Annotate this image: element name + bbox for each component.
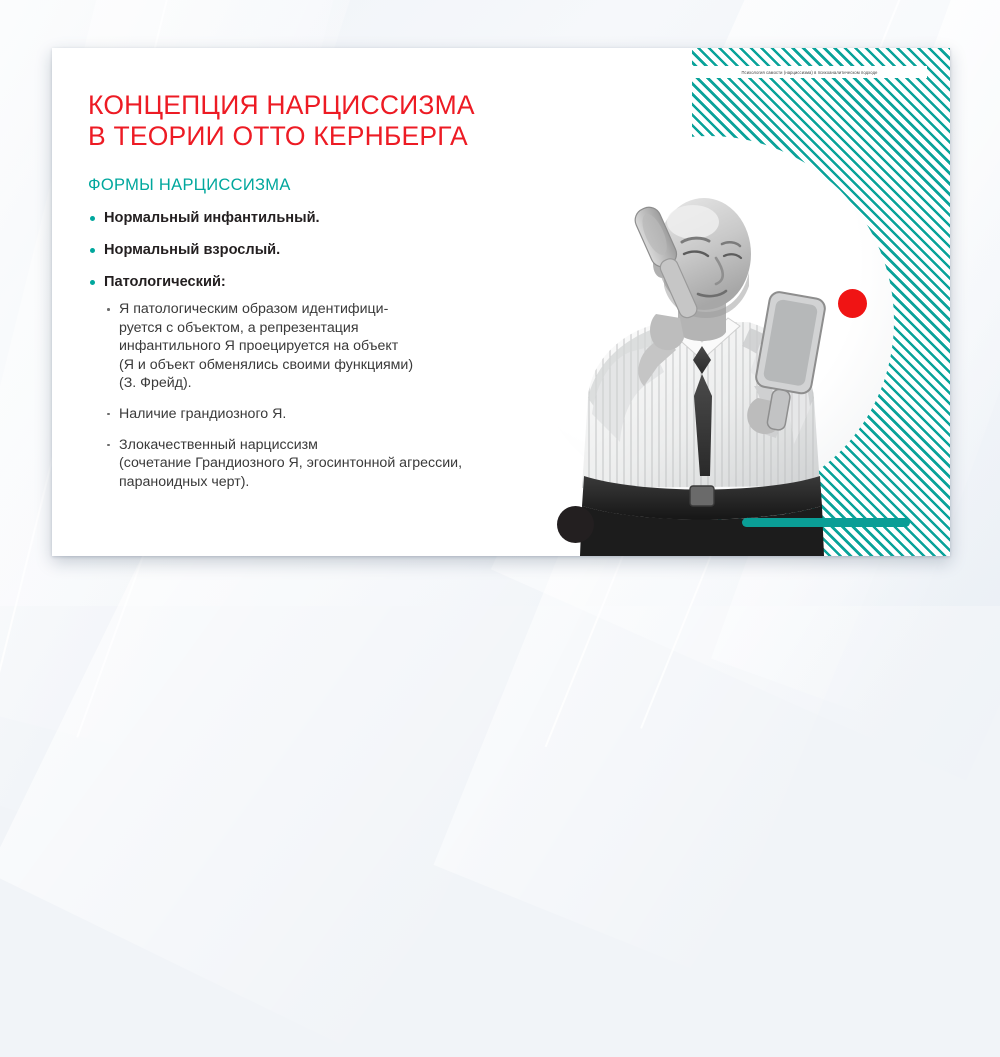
page-title: КОНЦЕПЦИЯ НАРЦИССИЗМА В ТЕОРИИ ОТТО КЕРН…: [88, 90, 558, 152]
sub-list-item: Я патологическим образом идентифици- руе…: [104, 300, 558, 393]
sub-list-item: Злокачественный нарциссизм (сочетание Гр…: [104, 436, 558, 492]
dark-dot-accent: [557, 506, 594, 543]
presentation-slide[interactable]: Психология самости (нарциссизма) в психо…: [52, 48, 950, 556]
sub-list-item: Наличие грандиозного Я.: [104, 405, 558, 424]
slide-micro-header: Психология самости (нарциссизма) в психо…: [692, 66, 927, 78]
bullet-text: Нормальный инфантильный.: [104, 210, 320, 226]
teal-bar-accent: [742, 518, 910, 527]
section-subtitle: ФОРМЫ НАРЦИССИЗМА: [88, 175, 558, 195]
slide-micro-header-text: Психология самости (нарциссизма) в психо…: [741, 70, 877, 75]
bullet-list: Нормальный инфантильный. Нормальный взро…: [88, 209, 558, 491]
list-item: Патологический: Я патологическим образом…: [88, 273, 558, 491]
bullet-text: Нормальный взрослый.: [104, 242, 280, 258]
sub-bullet-list: Я патологическим образом идентифици- руе…: [104, 300, 558, 491]
slide-content: КОНЦЕПЦИЯ НАРЦИССИЗМА В ТЕОРИИ ОТТО КЕРН…: [88, 90, 558, 504]
list-item: Нормальный взрослый.: [88, 241, 558, 260]
list-item: Нормальный инфантильный.: [88, 209, 558, 228]
bullet-text: Патологический:: [104, 274, 226, 290]
red-dot-accent: [838, 289, 867, 318]
photo-man-with-brush: [552, 146, 852, 556]
